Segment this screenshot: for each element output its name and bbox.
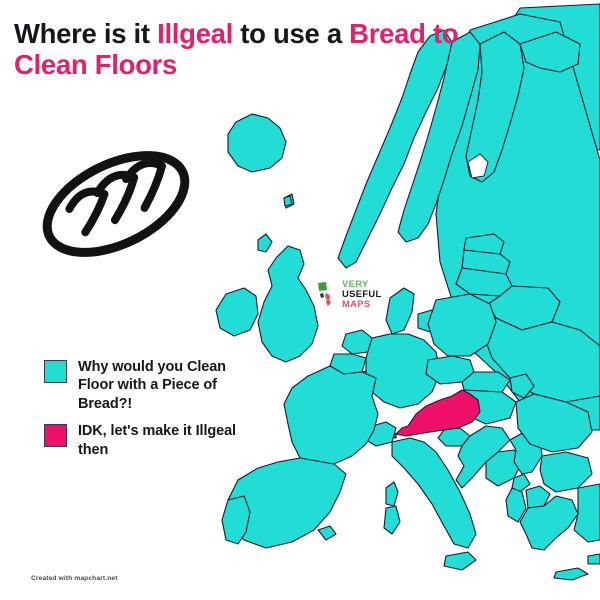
- europe-map: [0, 0, 600, 600]
- watermark-dark-shape: [320, 293, 324, 298]
- watermark-glyph-icon: [316, 279, 340, 309]
- country-denmark[interactable]: [386, 288, 414, 334]
- attribution-text: Created with mapchart.net: [31, 575, 118, 582]
- country-ireland[interactable]: [216, 288, 258, 336]
- island-crete[interactable]: [554, 568, 588, 580]
- title-segment-highlight-illgeal: Illgeal: [157, 18, 233, 49]
- island-cyprus[interactable]: [588, 554, 600, 564]
- legend-label-cyan: Why would you Clean Floor with a Piece o…: [78, 358, 243, 413]
- country-uk-hebrides[interactable]: [258, 234, 272, 252]
- country-netherlands[interactable]: [342, 330, 372, 354]
- map-legend: Why would you Clean Floor with a Piece o…: [44, 358, 243, 468]
- legend-item-pink[interactable]: IDK, let's make it Illgeal then: [44, 422, 243, 459]
- meme-map-page: Where is it Illgeal to use a Bread to Cl…: [0, 0, 600, 600]
- country-united-kingdom[interactable]: [258, 246, 318, 362]
- island-faroe[interactable]: [284, 196, 292, 206]
- title-segment-highlight-bread: Bread to: [349, 18, 458, 49]
- country-corsica[interactable]: [386, 482, 398, 506]
- map-svg: [0, 0, 600, 600]
- country-bulgaria[interactable]: [540, 452, 592, 492]
- island-balearics[interactable]: [318, 526, 336, 540]
- watermark-line-maps: MAPS: [342, 299, 382, 309]
- bread-outline: [32, 136, 200, 273]
- page-title: Where is it Illgeal to use a Bread to Cl…: [14, 18, 586, 81]
- island-sardinia[interactable]: [384, 506, 400, 534]
- title-segment-highlight-clean-floors: Clean Floors: [14, 49, 177, 80]
- island-sicily[interactable]: [444, 552, 476, 570]
- title-segment-plain-1: Where is it: [14, 18, 157, 49]
- legend-label-pink: IDK, let's make it Illgeal then: [78, 422, 243, 459]
- watermark-green-shape: [318, 282, 327, 291]
- very-useful-maps-watermark: VERY USEFUL MAPS: [316, 279, 382, 309]
- bread-loaf-icon: [26, 128, 206, 280]
- country-iceland[interactable]: [228, 114, 286, 172]
- watermark-pink-shape: [325, 293, 331, 306]
- watermark-text: VERY USEFUL MAPS: [342, 279, 382, 309]
- legend-item-cyan[interactable]: Why would you Clean Floor with a Piece o…: [44, 358, 243, 413]
- legend-swatch-pink: [44, 424, 67, 447]
- country-turkey[interactable]: [574, 484, 600, 542]
- legend-swatch-cyan: [44, 360, 67, 383]
- title-segment-plain-2: to use a: [233, 18, 349, 49]
- country-france[interactable]: [284, 366, 378, 466]
